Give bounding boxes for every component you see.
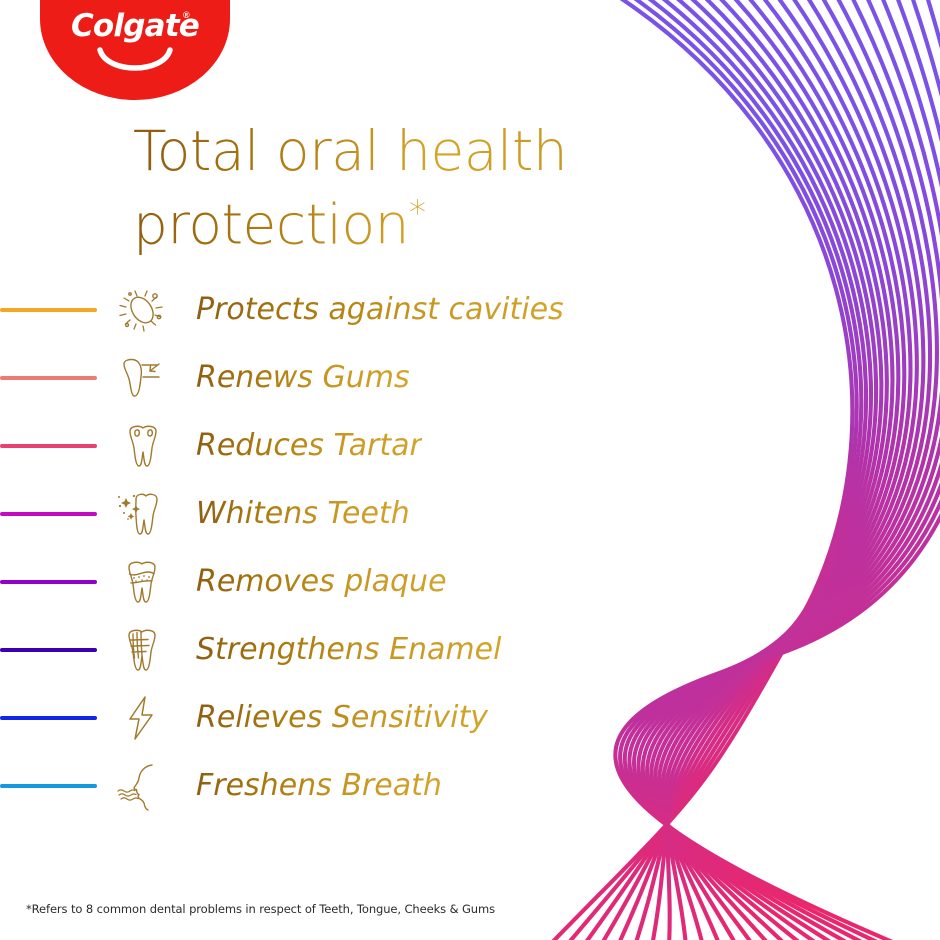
benefit-label: Removes plaque	[196, 563, 447, 601]
benefit-row: Whitens Teeth	[0, 480, 640, 548]
registered-mark: ®	[183, 10, 190, 20]
footnote: *Refers to 8 common dental problems in r…	[26, 902, 495, 916]
headline-line-1: Total oral health	[133, 119, 567, 183]
tooth-gum-arrow-icon	[112, 353, 172, 403]
benefit-label: Protects against cavities	[196, 291, 564, 329]
benefit-rule-5	[0, 580, 97, 584]
bacteria-germ-icon	[112, 285, 172, 335]
tooth-tartar-icon	[112, 421, 172, 471]
benefit-label: Whitens Teeth	[196, 495, 410, 533]
tooth-enamel-icon	[112, 625, 172, 675]
promo-poster: Colgate ® Total oral health protection* …	[0, 0, 940, 940]
tooth-sparkle-icon	[112, 489, 172, 539]
headline-line-2: protection	[133, 192, 409, 256]
face-profile-breath-icon	[112, 761, 172, 811]
benefit-rule-2	[0, 376, 97, 380]
benefit-rule-4	[0, 512, 97, 516]
benefit-row: Protects against cavities	[0, 276, 640, 344]
benefits-list: Protects against cavitiesRenews GumsRedu…	[0, 276, 640, 820]
benefit-label: Relieves Sensitivity	[196, 699, 488, 737]
benefit-row: Strengthens Enamel	[0, 616, 640, 684]
benefit-row: Removes plaque	[0, 548, 640, 616]
logo-inner: Colgate ®	[40, 0, 230, 100]
benefit-row: Relieves Sensitivity	[0, 684, 640, 752]
benefit-rule-1	[0, 308, 97, 312]
benefit-label: Renews Gums	[196, 359, 410, 397]
benefit-rule-7	[0, 716, 97, 720]
page-title: Total oral health protection*	[133, 120, 693, 255]
colgate-logo: Colgate ®	[40, 0, 230, 100]
benefit-row: Reduces Tartar	[0, 412, 640, 480]
benefit-rule-6	[0, 648, 97, 652]
benefit-label: Strengthens Enamel	[196, 631, 501, 669]
benefit-rule-3	[0, 444, 97, 448]
benefit-rule-8	[0, 784, 97, 788]
benefit-row: Freshens Breath	[0, 752, 640, 820]
benefit-label: Reduces Tartar	[196, 427, 422, 465]
headline-asterisk: *	[409, 193, 426, 233]
logo-wordmark: Colgate	[40, 8, 230, 44]
lightning-bolt-icon	[112, 693, 172, 743]
benefit-row: Renews Gums	[0, 344, 640, 412]
smile-arc-icon	[97, 44, 173, 84]
benefit-label: Freshens Breath	[196, 767, 442, 805]
tooth-plaque-icon	[112, 557, 172, 607]
